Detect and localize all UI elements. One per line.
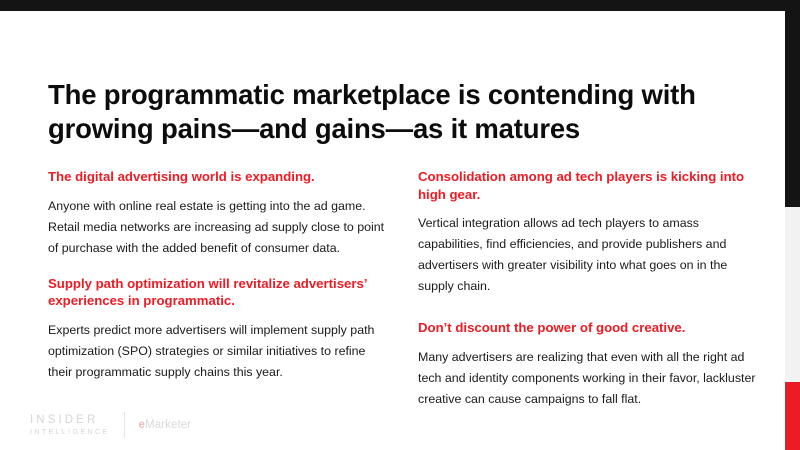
insider-intelligence-logo-line2: INTELLIGENCE [30,428,110,436]
block-body-text: Anyone with online real estate is gettin… [48,196,388,259]
content-block: Supply path optimization will revitalize… [48,275,388,383]
footer-logo-lockup: INSIDER INTELLIGENCE eMarketer [30,412,191,438]
emarketer-logo: eMarketer [139,419,192,431]
content-block: Don’t discount the power of good creativ… [418,319,760,410]
right-rail-dark-segment [785,11,800,207]
block-body-text: Vertical integration allows ad tech play… [418,213,760,297]
insider-intelligence-logo-line1: INSIDER [30,414,110,426]
content-column-left: The digital advertising world is expandi… [48,168,388,401]
emarketer-logo-wordmark: Marketer [145,419,191,431]
content-block: The digital advertising world is expandi… [48,168,388,259]
content-block: Consolidation among ad tech players is k… [418,168,760,297]
block-body-text: Many advertisers are realizing that even… [418,347,760,410]
page-title: The programmatic marketplace is contendi… [48,78,738,146]
right-rail-red-segment [785,382,800,450]
block-heading: Don’t discount the power of good creativ… [418,319,760,337]
content-column-right: Consolidation among ad tech players is k… [418,168,760,428]
logo-divider [124,412,125,438]
block-body-text: Experts predict more advertisers will im… [48,320,388,383]
insider-intelligence-logo: INSIDER INTELLIGENCE [30,414,110,436]
block-heading: Consolidation among ad tech players is k… [418,168,760,203]
right-rail-gray-segment [785,207,800,382]
block-heading: Supply path optimization will revitalize… [48,275,388,310]
slide-canvas: The programmatic marketplace is contendi… [0,0,800,450]
top-accent-band [0,0,800,11]
block-heading: The digital advertising world is expandi… [48,168,388,186]
